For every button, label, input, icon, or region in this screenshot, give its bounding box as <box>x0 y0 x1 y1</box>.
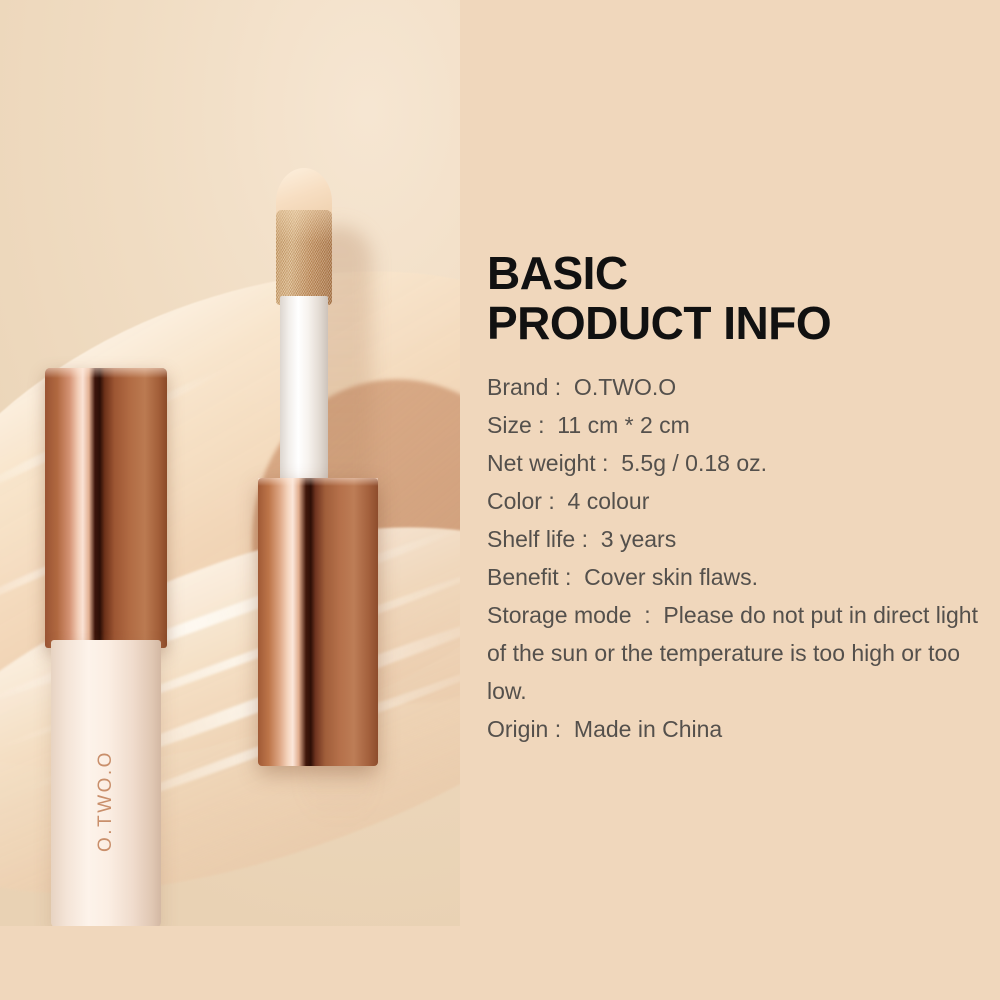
spec-list: Brand : O.TWO.O Size : 11 cm * 2 cm Net … <box>487 368 992 748</box>
spec-row-origin: Origin : Made in China <box>487 710 992 748</box>
rose-gold-cap-icon <box>45 368 167 648</box>
tube-brand-print: O.TWO.O <box>95 750 117 852</box>
spec-row-brand: Brand : O.TWO.O <box>487 368 992 406</box>
page-title-line-2: PRODUCT INFO <box>487 298 967 348</box>
product-info-page: O.TWO.O BASIC PRODUCT INFO Brand : O.TWO… <box>0 0 1000 1000</box>
concealer-tube: O.TWO.O <box>45 368 167 926</box>
page-title-line-1: BASIC <box>487 247 628 299</box>
spec-row-benefit: Benefit : Cover skin flaws. <box>487 558 992 596</box>
spec-row-net-weight: Net weight : 5.5g / 0.18 oz. <box>487 444 992 482</box>
applicator-wand <box>252 168 382 768</box>
spec-row-size: Size : 11 cm * 2 cm <box>487 406 992 444</box>
product-photo: O.TWO.O <box>0 0 460 926</box>
tube-body-icon: O.TWO.O <box>51 640 161 926</box>
spec-row-color: Color : 4 colour <box>487 482 992 520</box>
info-panel: BASIC PRODUCT INFO Brand : O.TWO.O Size … <box>460 0 1000 1000</box>
wand-stem-icon <box>280 296 328 484</box>
spec-row-storage-mode: Storage mode : Please do not put in dire… <box>487 596 992 710</box>
page-title: BASIC PRODUCT INFO <box>487 248 967 348</box>
rose-gold-cap-icon <box>258 478 378 766</box>
flocked-applicator-tip-icon <box>276 210 332 305</box>
spec-row-shelf-life: Shelf life : 3 years <box>487 520 992 558</box>
